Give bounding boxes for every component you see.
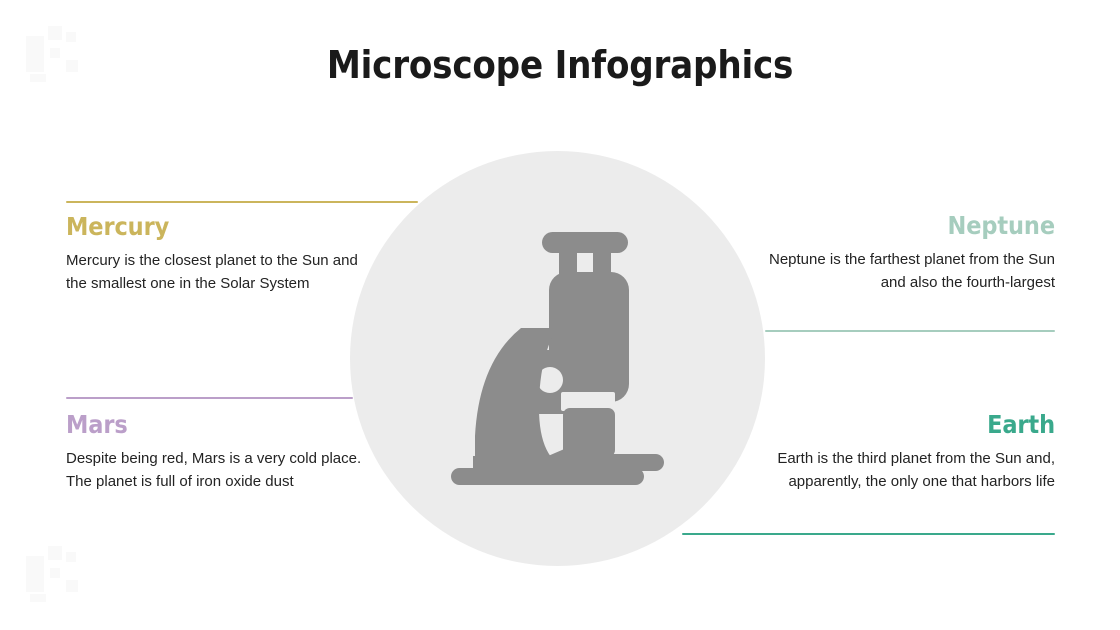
divider-rule-neptune xyxy=(765,330,1055,332)
planet-block-mars: Mars Despite being red, Mars is a very c… xyxy=(66,410,366,493)
divider-rule-mercury xyxy=(66,201,418,203)
planet-block-earth: Earth Earth is the third planet from the… xyxy=(755,410,1055,493)
planet-name-earth: Earth xyxy=(755,410,1055,440)
planet-description-neptune: Neptune is the farthest planet from the … xyxy=(755,249,1055,294)
infographic-slide: Microscope Infographics xyxy=(0,0,1120,630)
planet-description-earth: Earth is the third planet from the Sun a… xyxy=(755,448,1055,493)
planet-description-mars: Despite being red, Mars is a very cold p… xyxy=(66,448,366,493)
planet-name-mercury: Mercury xyxy=(66,212,366,242)
watermark-logo-bottom-left xyxy=(26,546,84,604)
planet-block-mercury: Mercury Mercury is the closest planet to… xyxy=(66,212,366,295)
planet-block-neptune: Neptune Neptune is the farthest planet f… xyxy=(755,211,1055,294)
divider-rule-earth xyxy=(682,533,1055,535)
microscope-icon xyxy=(451,232,664,485)
planet-name-neptune: Neptune xyxy=(755,211,1055,241)
page-title: Microscope Infographics xyxy=(0,42,1120,88)
planet-description-mercury: Mercury is the closest planet to the Sun… xyxy=(66,250,366,295)
planet-name-mars: Mars xyxy=(66,410,366,440)
divider-rule-mars xyxy=(66,397,353,399)
